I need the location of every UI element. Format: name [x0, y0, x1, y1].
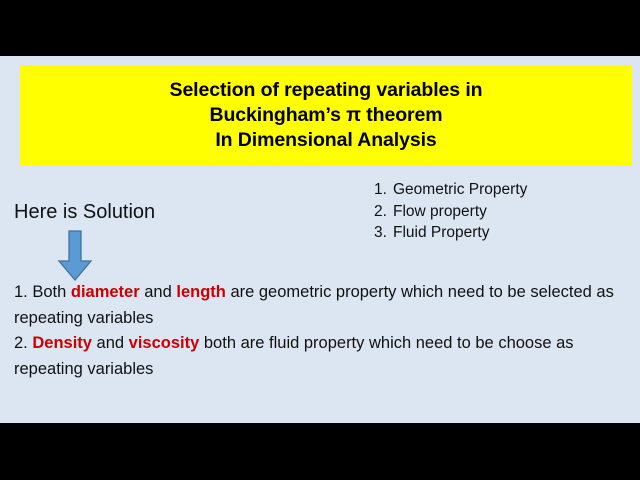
title-line-3: In Dimensional Analysis	[215, 128, 436, 153]
list-item: 1. Geometric Property	[374, 179, 624, 201]
list-item: 2. Flow property	[374, 201, 624, 223]
para1-highlight-diameter: diameter	[71, 283, 140, 301]
para2-highlight-density: Density	[32, 334, 92, 352]
explanation-paragraph-1: 1. Both diameter and length are geometri…	[14, 280, 630, 331]
explanation-block: 1. Both diameter and length are geometri…	[14, 280, 630, 382]
slide-root: Selection of repeating variables in Buck…	[0, 0, 640, 480]
solution-heading: Here is Solution	[14, 199, 155, 225]
para1-middle: and	[140, 283, 177, 301]
para1-highlight-length: length	[176, 283, 226, 301]
list-item-number: 3.	[374, 222, 393, 244]
list-item-label: Flow property	[393, 201, 487, 223]
title-line-2: Buckingham’s π theorem	[209, 103, 442, 128]
list-item-label: Geometric Property	[393, 179, 527, 201]
para2-highlight-viscosity: viscosity	[129, 334, 200, 352]
title-banner: Selection of repeating variables in Buck…	[20, 65, 632, 166]
para2-middle: and	[92, 334, 129, 352]
arrow-down-icon	[57, 230, 93, 282]
letterbox-top-bar	[0, 0, 640, 56]
list-item-number: 2.	[374, 201, 393, 223]
title-line-1: Selection of repeating variables in	[170, 78, 483, 103]
slide-canvas: Selection of repeating variables in Buck…	[0, 56, 640, 423]
property-list: 1. Geometric Property 2. Flow property 3…	[374, 179, 624, 244]
para2-prefix: 2.	[14, 334, 32, 352]
letterbox-bottom-bar	[0, 423, 640, 480]
list-item: 3. Fluid Property	[374, 222, 624, 244]
list-item-number: 1.	[374, 179, 393, 201]
list-item-label: Fluid Property	[393, 222, 489, 244]
explanation-paragraph-2: 2. Density and viscosity both are fluid …	[14, 331, 630, 382]
para1-prefix: 1. Both	[14, 283, 71, 301]
